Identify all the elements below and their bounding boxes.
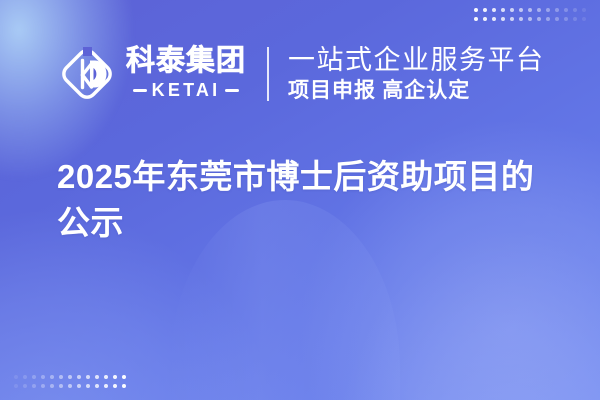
dot — [546, 8, 550, 12]
dot — [50, 375, 54, 379]
announcement-banner: 科泰集团 KETAI 一站式企业服务平台 项目申报 高企认定 2025年东莞市博… — [0, 0, 600, 400]
dot — [546, 17, 550, 21]
header-vertical-divider — [267, 47, 269, 101]
dot — [519, 8, 523, 12]
dot — [104, 384, 108, 388]
dot — [555, 17, 559, 21]
dot — [41, 375, 45, 379]
dot — [510, 17, 514, 21]
dot — [68, 384, 72, 388]
brand-wordmark: 科泰集团 KETAI — [126, 47, 246, 101]
ketai-diamond-kd-logo-icon — [57, 44, 117, 104]
dot — [23, 375, 27, 379]
dot — [113, 375, 117, 379]
dot — [68, 375, 72, 379]
dot — [14, 384, 18, 388]
dot — [582, 17, 586, 21]
brand-latin-row: KETAI — [126, 80, 246, 101]
wordmark-rule-left — [133, 89, 147, 92]
dot — [555, 8, 559, 12]
tagline-secondary: 项目申报 高企认定 — [288, 78, 545, 103]
dot-grid-row — [474, 8, 586, 12]
dot — [492, 8, 496, 12]
dot — [122, 375, 126, 379]
dot-grid-top-right — [474, 8, 586, 21]
dot — [501, 8, 505, 12]
dot — [77, 375, 81, 379]
dot — [122, 384, 126, 388]
dot — [573, 8, 577, 12]
dot — [95, 375, 99, 379]
dot-grid-bottom-left — [14, 375, 126, 388]
tagline-block: 一站式企业服务平台 项目申报 高企认定 — [288, 45, 545, 103]
dot — [537, 17, 541, 21]
dot — [474, 17, 478, 21]
wordmark-rule-right — [225, 89, 239, 92]
dot — [474, 8, 478, 12]
dot — [510, 8, 514, 12]
dot — [14, 375, 18, 379]
dot — [86, 384, 90, 388]
page-title: 2025年东莞市博士后资助项目的公示 — [57, 154, 562, 245]
dot — [32, 375, 36, 379]
dot — [32, 384, 36, 388]
dot — [483, 17, 487, 21]
dot — [483, 8, 487, 12]
tagline-primary: 一站式企业服务平台 — [288, 45, 545, 75]
brand-name-latin: KETAI — [152, 80, 221, 101]
dot — [23, 384, 27, 388]
dot — [59, 384, 63, 388]
dot — [50, 384, 54, 388]
dot — [501, 17, 505, 21]
dot — [104, 375, 108, 379]
dot — [564, 17, 568, 21]
dot — [41, 384, 45, 388]
banner-header: 科泰集团 KETAI 一站式企业服务平台 项目申报 高企认定 — [0, 38, 600, 110]
dot — [519, 17, 523, 21]
dot — [113, 384, 117, 388]
dot — [528, 8, 532, 12]
brand-logo-lockup[interactable]: 科泰集团 KETAI — [57, 44, 246, 104]
dot-grid-row — [474, 17, 586, 21]
dot — [564, 8, 568, 12]
dot — [573, 17, 577, 21]
dot — [537, 8, 541, 12]
dot-grid-row — [14, 384, 126, 388]
dot — [492, 17, 496, 21]
dot — [77, 384, 81, 388]
dot-grid-row — [14, 375, 126, 379]
dot — [582, 8, 586, 12]
dot — [95, 384, 99, 388]
dot — [528, 17, 532, 21]
brand-name-cn: 科泰集团 — [126, 47, 246, 77]
dot — [59, 375, 63, 379]
dot — [86, 375, 90, 379]
